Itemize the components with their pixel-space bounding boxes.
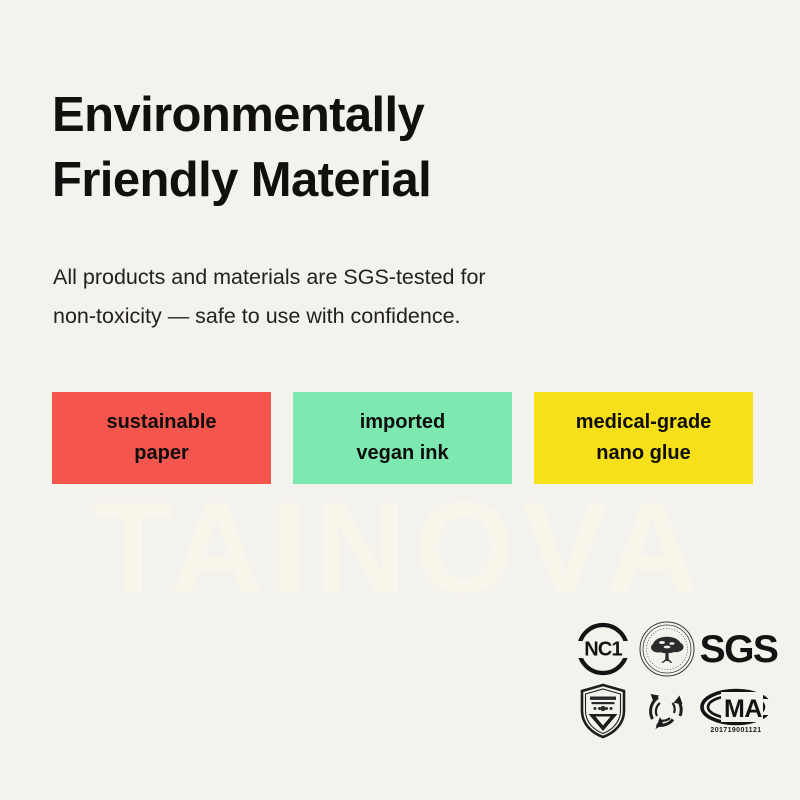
certification-row-top: NC1 (572, 618, 777, 680)
nc1-certification-icon: NC1 (572, 621, 634, 677)
description-line-2: non-toxicity — safe to use with confiden… (53, 297, 653, 337)
page-title-line-2: Friendly Material (52, 148, 692, 213)
poster-canvas: TAINOVA Environmentally Friendly Materia… (0, 0, 800, 800)
cma-certificate-number: 201719001121 (710, 727, 761, 734)
shield-quality-badge-icon (572, 682, 634, 740)
material-chip-group: sustainable paper imported vegan ink med… (52, 392, 753, 484)
svg-text:NC1: NC1 (584, 639, 622, 661)
brand-watermark: TAINOVA (0, 484, 800, 614)
description-text: All products and materials are SGS-teste… (53, 258, 653, 338)
cma-logo-text: MA (724, 695, 762, 723)
sgs-certification-logo: SGS (700, 625, 777, 673)
cma-certification-icon: MA 201719001121 (696, 682, 776, 740)
chip-imported-vegan-ink: imported vegan ink (293, 392, 512, 484)
chip-label-line-2: nano glue (596, 438, 690, 469)
forest-tree-seal-icon (634, 619, 700, 679)
chip-label-line-2: paper (134, 438, 188, 469)
chip-label-line-2: vegan ink (356, 438, 448, 469)
page-title: Environmentally Friendly Material (52, 83, 692, 212)
certification-row-bottom: MA 201719001121 (572, 680, 777, 742)
page-title-line-1: Environmentally (52, 83, 692, 148)
chip-label-line-1: medical-grade (576, 407, 712, 438)
chip-medical-grade-nano-glue: medical-grade nano glue (534, 392, 753, 484)
sgs-logo-text: SGS (700, 630, 778, 669)
description-line-1: All products and materials are SGS-teste… (53, 258, 653, 298)
chip-label-line-1: imported (360, 407, 446, 438)
chip-sustainable-paper: sustainable paper (52, 392, 271, 484)
certification-logos: NC1 (572, 618, 777, 742)
recycling-symbol-icon (634, 682, 696, 740)
chip-label-line-1: sustainable (106, 407, 216, 438)
